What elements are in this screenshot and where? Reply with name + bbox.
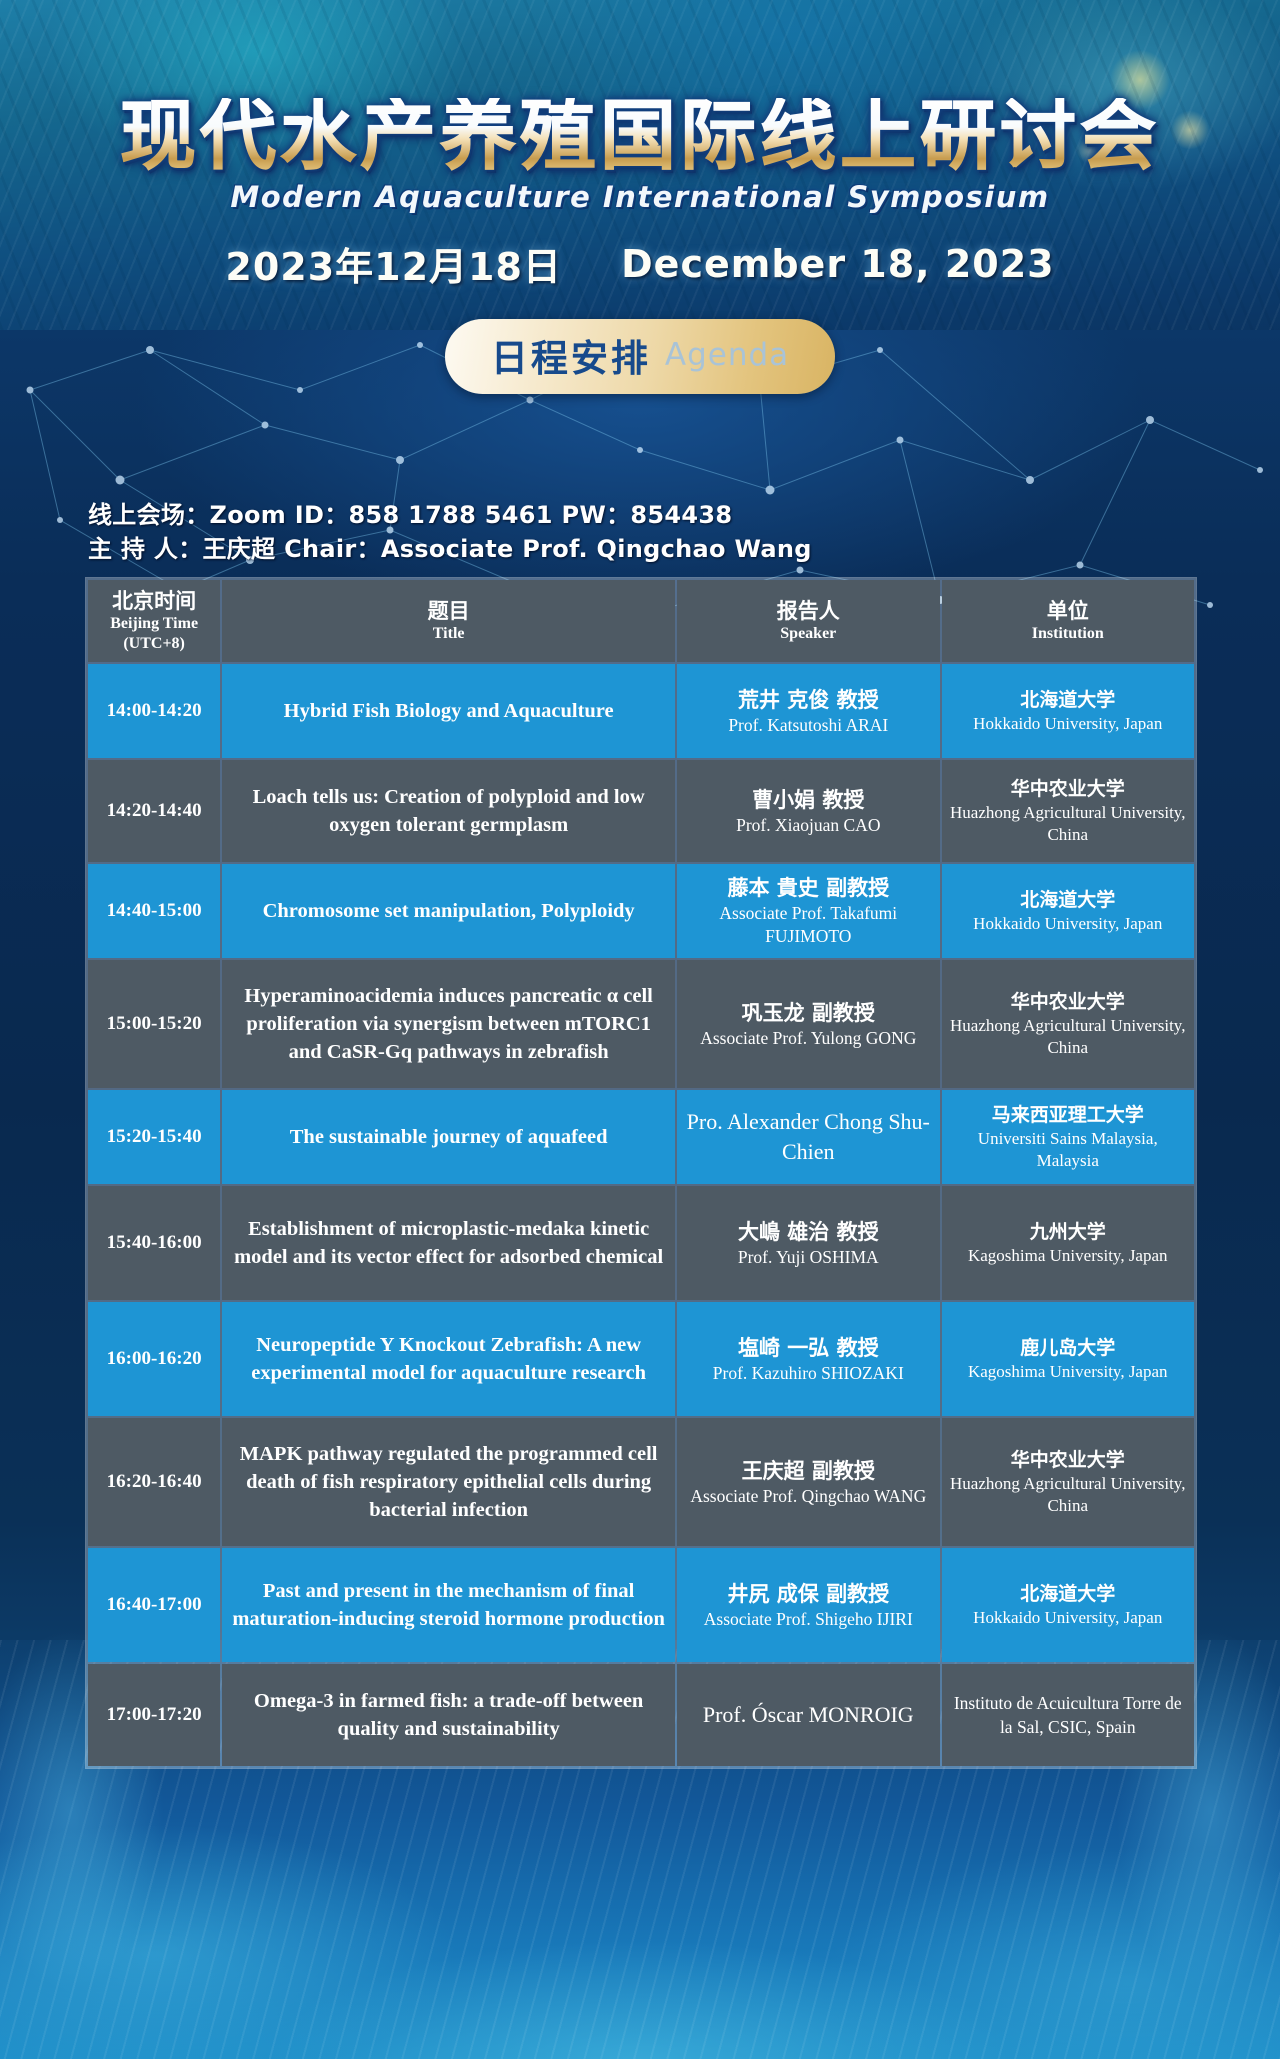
poster-header: 现代水产养殖国际线上研讨会 Modern Aquaculture Interna… xyxy=(0,0,1280,394)
cell-time: 14:00-14:20 xyxy=(88,664,220,758)
cell-title: The sustainable journey of aquafeed xyxy=(222,1090,675,1184)
cell-institution: 九州大学Kagoshima University, Japan xyxy=(942,1186,1194,1300)
cell-speaker: 荒井 克俊 教授Prof. Katsutoshi ARAI xyxy=(677,664,939,758)
header-speaker-cn: 报告人 xyxy=(683,598,933,624)
cell-title: MAPK pathway regulated the programmed ce… xyxy=(222,1418,675,1546)
cell-speaker_en: Associate Prof. Shigeho IJIRI xyxy=(683,1608,933,1631)
cell-speaker_en: Associate Prof. Takafumi FUJIMOTO xyxy=(683,902,933,948)
cell-speaker_en: Prof. Óscar MONROIG xyxy=(683,1700,933,1730)
agenda-badge: 日程安排Agenda xyxy=(445,319,835,394)
table-row: 15:40-16:00Establishment of microplastic… xyxy=(88,1186,1194,1300)
cell-institution: 北海道大学Hokkaido University, Japan xyxy=(942,864,1194,958)
cell-inst_en: Huazhong Agricultural University, China xyxy=(948,802,1188,846)
cell-inst_cn: 九州大学 xyxy=(948,1220,1188,1245)
table-row: 15:20-15:40The sustainable journey of aq… xyxy=(88,1090,1194,1184)
cell-title: Hybrid Fish Biology and Aquaculture xyxy=(222,664,675,758)
zoom-info-line: 线上会场：Zoom ID：858 1788 5461 PW：854438 xyxy=(88,498,1188,532)
cell-inst_cn: 华中农业大学 xyxy=(948,1448,1188,1473)
header-time-en: Beijing Time xyxy=(94,614,214,634)
table-row: 16:40-17:00Past and present in the mecha… xyxy=(88,1548,1194,1662)
cell-institution: 北海道大学Hokkaido University, Japan xyxy=(942,1548,1194,1662)
cell-speaker_en: Associate Prof. Qingchao WANG xyxy=(683,1485,933,1508)
cell-time: 16:40-17:00 xyxy=(88,1548,220,1662)
cell-speaker_cn: 曹小娟 教授 xyxy=(683,786,933,814)
table-row: 16:00-16:20Neuropeptide Y Knockout Zebra… xyxy=(88,1302,1194,1416)
cell-speaker: 塩崎 一弘 教授Prof. Kazuhiro SHIOZAKI xyxy=(677,1302,939,1416)
meeting-info-block: 线上会场：Zoom ID：858 1788 5461 PW：854438 主 持… xyxy=(88,498,1188,566)
cell-time: 15:20-15:40 xyxy=(88,1090,220,1184)
cell-inst_cn: 北海道大学 xyxy=(948,888,1188,913)
cell-title: Chromosome set manipulation, Polyploidy xyxy=(222,864,675,958)
cell-inst_en: Instituto de Acuicultura Torre de la Sal… xyxy=(948,1691,1188,1739)
cell-title: Loach tells us: Creation of polyploid an… xyxy=(222,760,675,862)
agenda-badge-wrap: 日程安排Agenda xyxy=(0,319,1280,394)
table-row: 15:00-15:20Hyperaminoacidemia induces pa… xyxy=(88,960,1194,1088)
table-header-row: 北京时间 Beijing Time (UTC+8) 题目 Title 报告人 S… xyxy=(88,580,1194,662)
cell-institution: Instituto de Acuicultura Torre de la Sal… xyxy=(942,1664,1194,1766)
cell-institution: 马来西亚理工大学Universiti Sains Malaysia, Malay… xyxy=(942,1090,1194,1184)
cell-inst_cn: 马来西亚理工大学 xyxy=(948,1103,1188,1128)
header-institution-en: Institution xyxy=(948,624,1188,644)
header-cell-time: 北京时间 Beijing Time (UTC+8) xyxy=(88,580,220,662)
cell-time: 16:00-16:20 xyxy=(88,1302,220,1416)
cell-inst_en: Huazhong Agricultural University, China xyxy=(948,1473,1188,1517)
cell-title: Establishment of microplastic-medaka kin… xyxy=(222,1186,675,1300)
cell-inst_cn: 鹿儿岛大学 xyxy=(948,1336,1188,1361)
header-cell-institution: 单位 Institution xyxy=(942,580,1194,662)
cell-title: Hyperaminoacidemia induces pancreatic α … xyxy=(222,960,675,1088)
cell-speaker_en: Prof. Yuji OSHIMA xyxy=(683,1246,933,1269)
cell-speaker_en: Prof. Katsutoshi ARAI xyxy=(683,714,933,737)
cell-inst_cn: 北海道大学 xyxy=(948,1582,1188,1607)
table-row: 16:20-16:40MAPK pathway regulated the pr… xyxy=(88,1418,1194,1546)
cell-institution: 鹿儿岛大学Kagoshima University, Japan xyxy=(942,1302,1194,1416)
cell-speaker_en: Associate Prof. Yulong GONG xyxy=(683,1027,933,1050)
cell-speaker: 大嶋 雄治 教授Prof. Yuji OSHIMA xyxy=(677,1186,939,1300)
cell-institution: 华中农业大学Huazhong Agricultural University, … xyxy=(942,760,1194,862)
cell-time: 14:20-14:40 xyxy=(88,760,220,862)
cell-speaker: 王庆超 副教授Associate Prof. Qingchao WANG xyxy=(677,1418,939,1546)
cell-speaker_cn: 井尻 成保 副教授 xyxy=(683,1580,933,1608)
cell-inst_cn: 华中农业大学 xyxy=(948,990,1188,1015)
agenda-table: 北京时间 Beijing Time (UTC+8) 题目 Title 报告人 S… xyxy=(86,578,1196,1768)
header-time-cn: 北京时间 xyxy=(94,588,214,614)
cell-speaker: 巩玉龙 副教授Associate Prof. Yulong GONG xyxy=(677,960,939,1088)
cell-speaker_cn: 塩崎 一弘 教授 xyxy=(683,1334,933,1362)
cell-title: Past and present in the mechanism of fin… xyxy=(222,1548,675,1662)
table-row: 14:20-14:40Loach tells us: Creation of p… xyxy=(88,760,1194,862)
event-date-cn: 2023年12月18日 xyxy=(225,236,562,291)
cell-inst_en: Huazhong Agricultural University, China xyxy=(948,1015,1188,1059)
cell-speaker: 井尻 成保 副教授Associate Prof. Shigeho IJIRI xyxy=(677,1548,939,1662)
cell-speaker_en: Prof. Kazuhiro SHIOZAKI xyxy=(683,1362,933,1385)
agenda-label-en: Agenda xyxy=(665,337,789,373)
cell-title: Neuropeptide Y Knockout Zebrafish: A new… xyxy=(222,1302,675,1416)
cell-inst_en: Kagoshima University, Japan xyxy=(948,1361,1188,1383)
agenda-label-cn: 日程安排 xyxy=(491,337,651,380)
cell-speaker_cn: 藤本 貴史 副教授 xyxy=(683,874,933,902)
agenda-table-head: 北京时间 Beijing Time (UTC+8) 题目 Title 报告人 S… xyxy=(88,580,1194,662)
header-cell-speaker: 报告人 Speaker xyxy=(677,580,939,662)
header-institution-cn: 单位 xyxy=(948,598,1188,624)
agenda-table-body: 14:00-14:20Hybrid Fish Biology and Aquac… xyxy=(88,664,1194,1766)
event-date-en: December 18, 2023 xyxy=(621,242,1054,286)
cell-speaker: 藤本 貴史 副教授Associate Prof. Takafumi FUJIMO… xyxy=(677,864,939,958)
header-cell-title: 题目 Title xyxy=(222,580,675,662)
cell-speaker_cn: 巩玉龙 副教授 xyxy=(683,999,933,1027)
table-row: 14:40-15:00Chromosome set manipulation, … xyxy=(88,864,1194,958)
cell-inst_cn: 华中农业大学 xyxy=(948,777,1188,802)
header-title-cn: 题目 xyxy=(228,598,669,624)
header-title-en: Title xyxy=(228,624,669,644)
table-row: 17:00-17:20Omega-3 in farmed fish: a tra… xyxy=(88,1664,1194,1766)
cell-time: 14:40-15:00 xyxy=(88,864,220,958)
cell-inst_en: Universiti Sains Malaysia, Malaysia xyxy=(948,1128,1188,1172)
cell-institution: 北海道大学Hokkaido University, Japan xyxy=(942,664,1194,758)
cell-institution: 华中农业大学Huazhong Agricultural University, … xyxy=(942,960,1194,1088)
cell-speaker: Pro. Alexander Chong Shu-Chien xyxy=(677,1090,939,1184)
cell-speaker_cn: 大嶋 雄治 教授 xyxy=(683,1218,933,1246)
cell-inst_en: Hokkaido University, Japan xyxy=(948,713,1188,735)
page-title-cn: 现代水产养殖国际线上研讨会 xyxy=(0,98,1280,174)
cell-time: 15:40-16:00 xyxy=(88,1186,220,1300)
table-row: 14:00-14:20Hybrid Fish Biology and Aquac… xyxy=(88,664,1194,758)
cell-speaker_cn: 荒井 克俊 教授 xyxy=(683,686,933,714)
cell-speaker_en: Pro. Alexander Chong Shu-Chien xyxy=(683,1107,933,1167)
cell-speaker: 曹小娟 教授Prof. Xiaojuan CAO xyxy=(677,760,939,862)
cell-inst_en: Hokkaido University, Japan xyxy=(948,1607,1188,1629)
cell-institution: 华中农业大学Huazhong Agricultural University, … xyxy=(942,1418,1194,1546)
chair-info-line: 主 持 人：王庆超 Chair：Associate Prof. Qingchao… xyxy=(88,532,1188,566)
event-date: 2023年12月18日 December 18, 2023 xyxy=(0,236,1280,291)
cell-speaker_en: Prof. Xiaojuan CAO xyxy=(683,814,933,837)
header-speaker-en: Speaker xyxy=(683,624,933,644)
cell-speaker_cn: 王庆超 副教授 xyxy=(683,1457,933,1485)
cell-time: 15:00-15:20 xyxy=(88,960,220,1088)
cell-speaker: Prof. Óscar MONROIG xyxy=(677,1664,939,1766)
header-time-utc: (UTC+8) xyxy=(94,634,214,654)
cell-time: 17:00-17:20 xyxy=(88,1664,220,1766)
cell-time: 16:20-16:40 xyxy=(88,1418,220,1546)
cell-inst_cn: 北海道大学 xyxy=(948,688,1188,713)
cell-inst_en: Hokkaido University, Japan xyxy=(948,913,1188,935)
page-title-en: Modern Aquaculture International Symposi… xyxy=(0,180,1280,214)
cell-title: Omega-3 in farmed fish: a trade-off betw… xyxy=(222,1664,675,1766)
cell-inst_en: Kagoshima University, Japan xyxy=(948,1245,1188,1267)
